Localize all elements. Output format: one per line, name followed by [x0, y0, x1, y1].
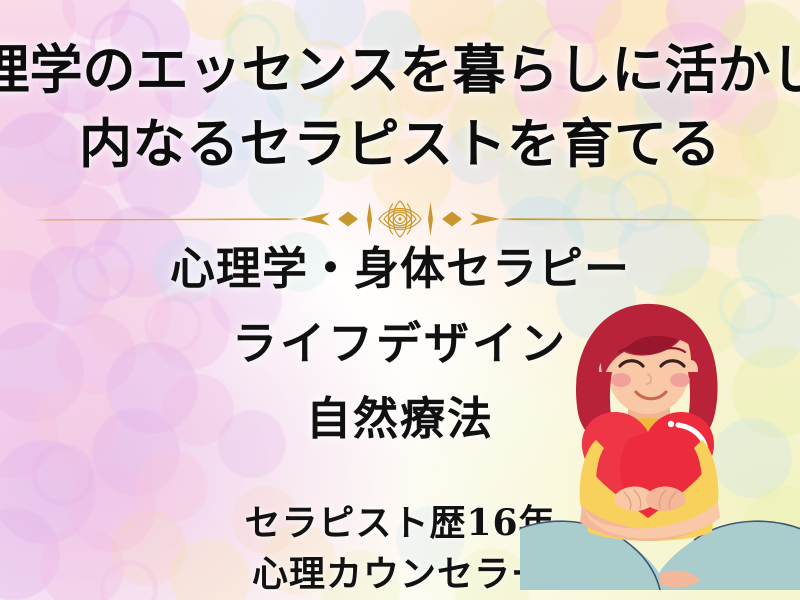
service-line-1: 心理学・身体セラピー — [75, 246, 725, 291]
gold-ornamental-divider — [0, 198, 800, 240]
illustration-svg — [520, 288, 800, 600]
divider-svg — [0, 198, 800, 240]
headline-line-2: 内なるセラピストを育てる — [0, 118, 800, 171]
banner-canvas: 心理学のエッセンスを暮らしに活かし、 内なるセラピストを育てる — [0, 0, 800, 600]
blush-left — [611, 373, 631, 387]
headline-line-1: 心理学のエッセンスを暮らしに活かし、 — [0, 44, 800, 97]
blush-right — [670, 373, 690, 387]
heart-sparkle — [668, 421, 674, 427]
woman-hugging-heart-illustration — [520, 288, 800, 600]
